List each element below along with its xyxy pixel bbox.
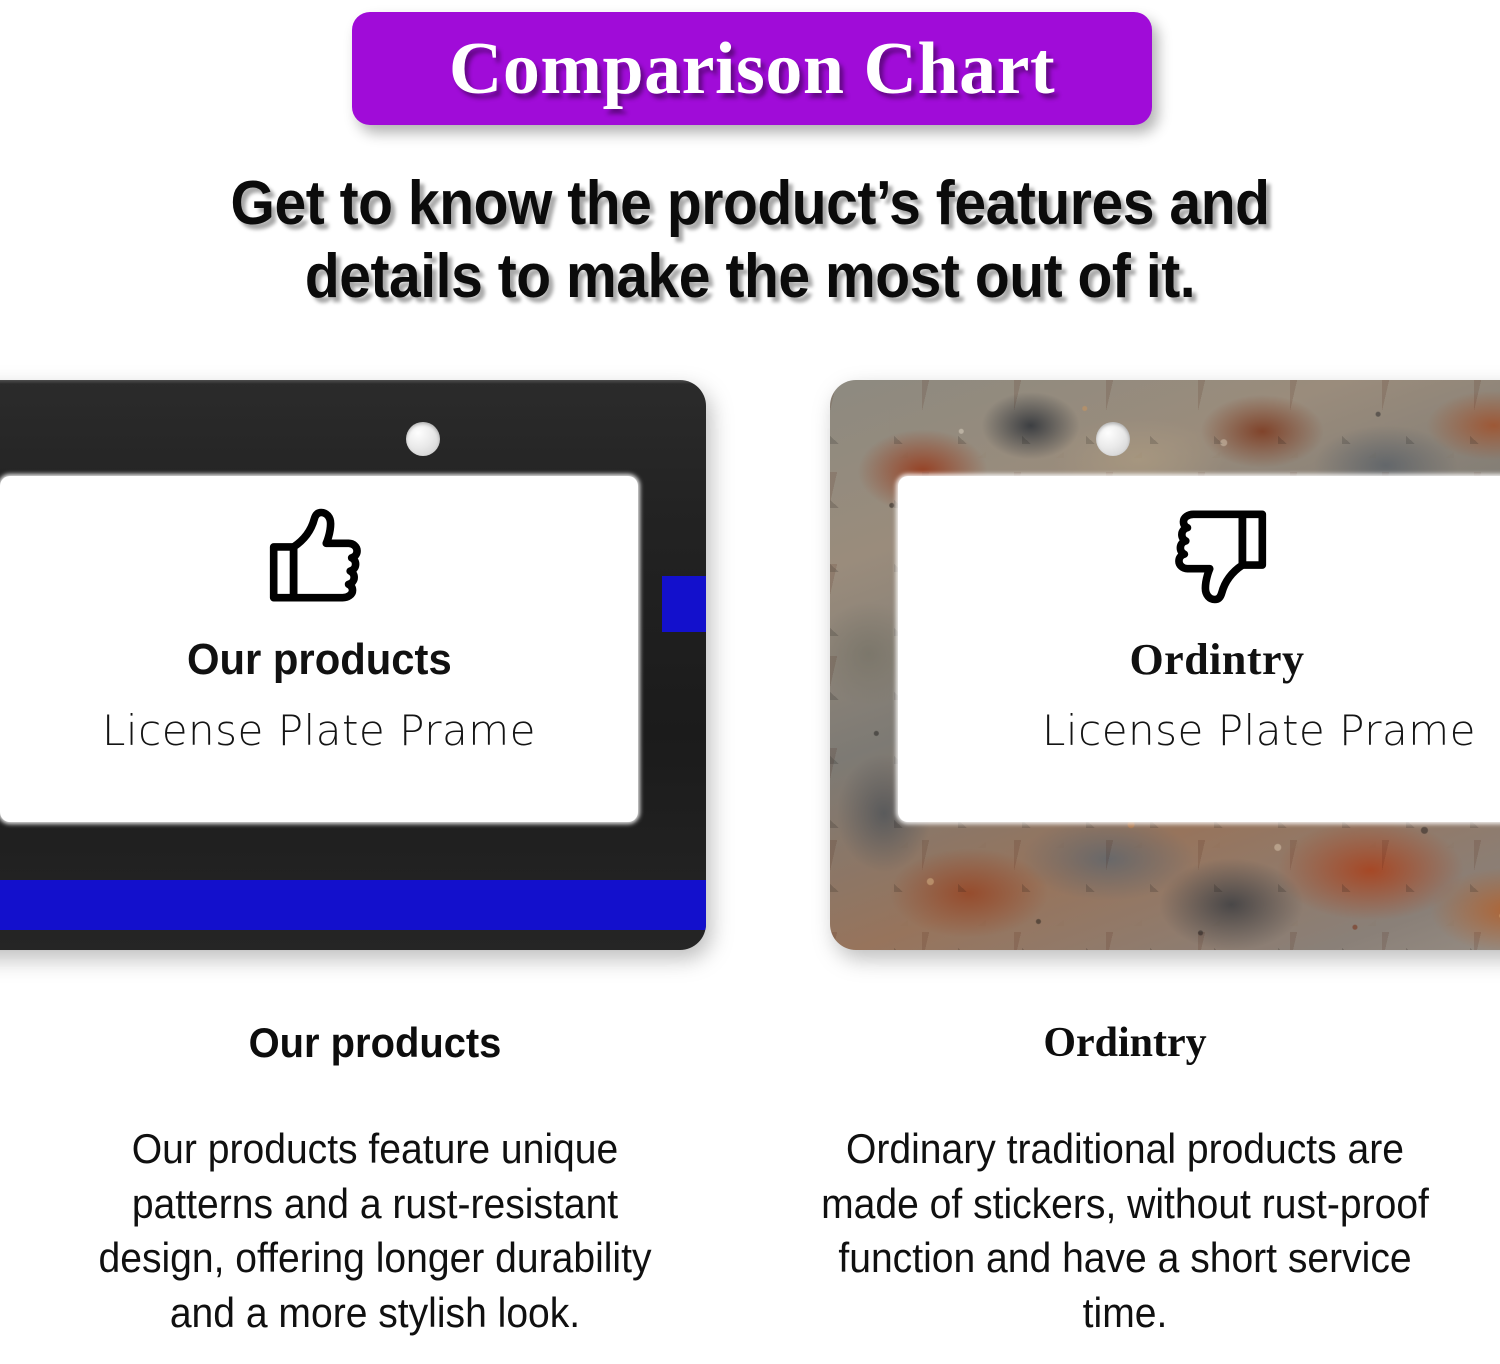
subtitle-text: Get to know the product’s features and d…: [143, 168, 1357, 313]
screw-hole: [406, 422, 440, 456]
description-column-ours: Our products Our products feature unique…: [0, 1022, 750, 1364]
product-frame-ours: Our products License Plate Prame: [0, 380, 706, 950]
screw-hole: [1096, 422, 1130, 456]
frames-row: Our products License Plate Prame: [0, 370, 1500, 970]
description-title-ordinary: Ordintry: [1043, 1022, 1206, 1064]
plate-subheading-ordinary: License Plate Prame: [1042, 710, 1476, 752]
product-frame-ordinary: Ordintry License Plate Prame: [830, 380, 1500, 950]
plate-heading-ordinary: Ordintry: [1129, 638, 1304, 682]
blue-stripe-side: [662, 576, 706, 632]
plate-window-ours: Our products License Plate Prame: [0, 476, 638, 822]
blue-stripe-bottom: [0, 880, 706, 930]
comparison-chart-page: Comparison Chart Get to know the product…: [0, 0, 1500, 1364]
plate-window-ordinary: Ordintry License Plate Prame: [898, 476, 1500, 822]
descriptions-row: Our products Our products feature unique…: [0, 1022, 1500, 1364]
title-banner: Comparison Chart: [352, 12, 1152, 125]
description-body-ours: Our products feature unique patterns and…: [68, 1122, 682, 1340]
description-column-ordinary: Ordintry Ordinary traditional products a…: [750, 1022, 1500, 1364]
description-body-ordinary: Ordinary traditional products are made o…: [818, 1122, 1432, 1340]
thumbs-up-icon: [260, 498, 378, 614]
page-title: Comparison Chart: [449, 32, 1055, 106]
thumbs-down-icon: [1158, 498, 1276, 614]
plate-subheading-ours: License Plate Prame: [102, 710, 536, 752]
description-title-ours: Our products: [249, 1022, 502, 1064]
plate-heading-ours: Our products: [187, 638, 452, 682]
